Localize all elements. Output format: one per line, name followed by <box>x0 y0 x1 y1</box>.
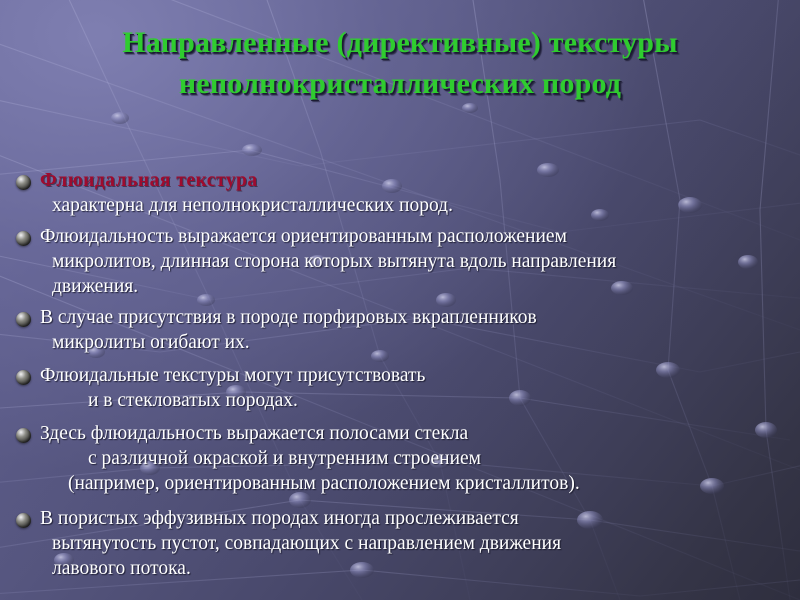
bullet-list: Флюидальная текстура характерна для непо… <box>14 168 792 581</box>
list-item-text: Здесь флюидальность выражается полосами … <box>40 421 792 496</box>
list-item-line: движения. <box>40 274 792 299</box>
slide-title: Направленные (директивные) текстуры непо… <box>0 22 800 104</box>
sphere-bullet-icon <box>16 175 31 190</box>
slide-canvas: Направленные (директивные) текстуры непо… <box>0 0 800 600</box>
sphere-bullet-icon <box>16 312 31 327</box>
list-item-line: Флюидальные текстуры могут присутствоват… <box>40 363 792 388</box>
list-item-line: с различной окраской и внутренним строен… <box>40 446 792 471</box>
list-item: Здесь флюидальность выражается полосами … <box>14 421 792 496</box>
list-item-text: Флюидальная текстура характерна для непо… <box>40 168 792 218</box>
list-item: В пористых эффузивных породах иногда про… <box>14 506 792 581</box>
sphere-bullet-icon <box>16 513 31 528</box>
list-item-line: микролиты огибают их. <box>40 330 792 355</box>
list-item: Флюидальность выражается ориентированным… <box>14 224 792 299</box>
list-item-line: (например, ориентированным расположением… <box>40 471 792 496</box>
list-item-line: Здесь флюидальность выражается полосами … <box>40 421 792 446</box>
title-line-2: неполнокристаллических пород <box>26 63 774 104</box>
list-item-line: Флюидальная текстура <box>40 168 792 193</box>
list-item-text: Флюидальность выражается ориентированным… <box>40 224 792 299</box>
list-item-text: В пористых эффузивных породах иногда про… <box>40 506 792 581</box>
list-item-line: Флюидальность выражается ориентированным… <box>40 224 792 249</box>
sphere-bullet-icon <box>16 370 31 385</box>
sphere-bullet-icon <box>16 231 31 246</box>
list-item: Флюидальные текстуры могут присутствоват… <box>14 363 792 413</box>
list-item-line: В случае присутствия в породе порфировых… <box>40 305 792 330</box>
list-item-text: В случае присутствия в породе порфировых… <box>40 305 792 355</box>
list-item-line: характерна для неполнокристаллических по… <box>40 193 792 218</box>
list-item-line: В пористых эффузивных породах иногда про… <box>40 506 792 531</box>
list-item-line: лавового потока. <box>40 556 792 581</box>
list-item: Флюидальная текстура характерна для непо… <box>14 168 792 218</box>
sphere-bullet-icon <box>16 428 31 443</box>
list-item: В случае присутствия в породе порфировых… <box>14 305 792 355</box>
title-line-1: Направленные (директивные) текстуры <box>26 22 774 63</box>
list-item-line: и в стекловатых породах. <box>40 388 792 413</box>
list-item-text: Флюидальные текстуры могут присутствоват… <box>40 363 792 413</box>
list-item-line: микролитов, длинная сторона которых вытя… <box>40 249 792 274</box>
list-item-line: вытянутость пустот, совпадающих с направ… <box>40 531 792 556</box>
